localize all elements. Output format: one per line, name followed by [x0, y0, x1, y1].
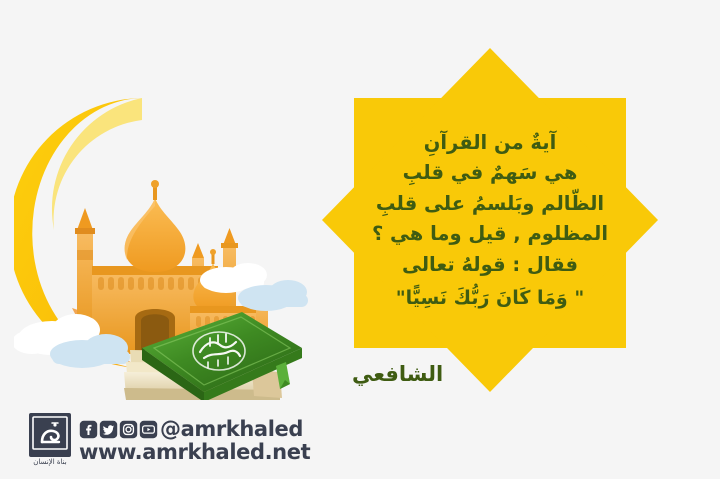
- star-polygons: [322, 48, 658, 392]
- quote-star-panel: آيةٌ من القرآنِ هي سَهمٌ في قلبِ الظّالم…: [308, 46, 672, 394]
- youtube-icon[interactable]: [139, 420, 158, 439]
- amr-khaled-logo[interactable]: بناة الإنسان: [28, 412, 72, 468]
- social-icons-row: @amrkhaled: [79, 419, 310, 441]
- facebook-icon[interactable]: [79, 420, 98, 439]
- instagram-icon[interactable]: [119, 420, 138, 439]
- twitter-icon[interactable]: [99, 420, 118, 439]
- website-url[interactable]: www.amrkhaled.net: [79, 441, 310, 463]
- brand-text-lines: @amrkhaled www.amrkhaled.net: [79, 419, 310, 463]
- islamic-illustration: [14, 80, 314, 400]
- logo-caption: بناة الإنسان: [33, 458, 67, 466]
- quote-attribution: الشافعي: [352, 362, 443, 386]
- poster-canvas: آيةٌ من القرآنِ هي سَهمٌ في قلبِ الظّالم…: [0, 0, 720, 479]
- branding-footer: بناة الإنسان: [28, 412, 310, 468]
- social-handle[interactable]: @amrkhaled: [160, 419, 303, 440]
- eight-point-star-shape: [308, 46, 672, 394]
